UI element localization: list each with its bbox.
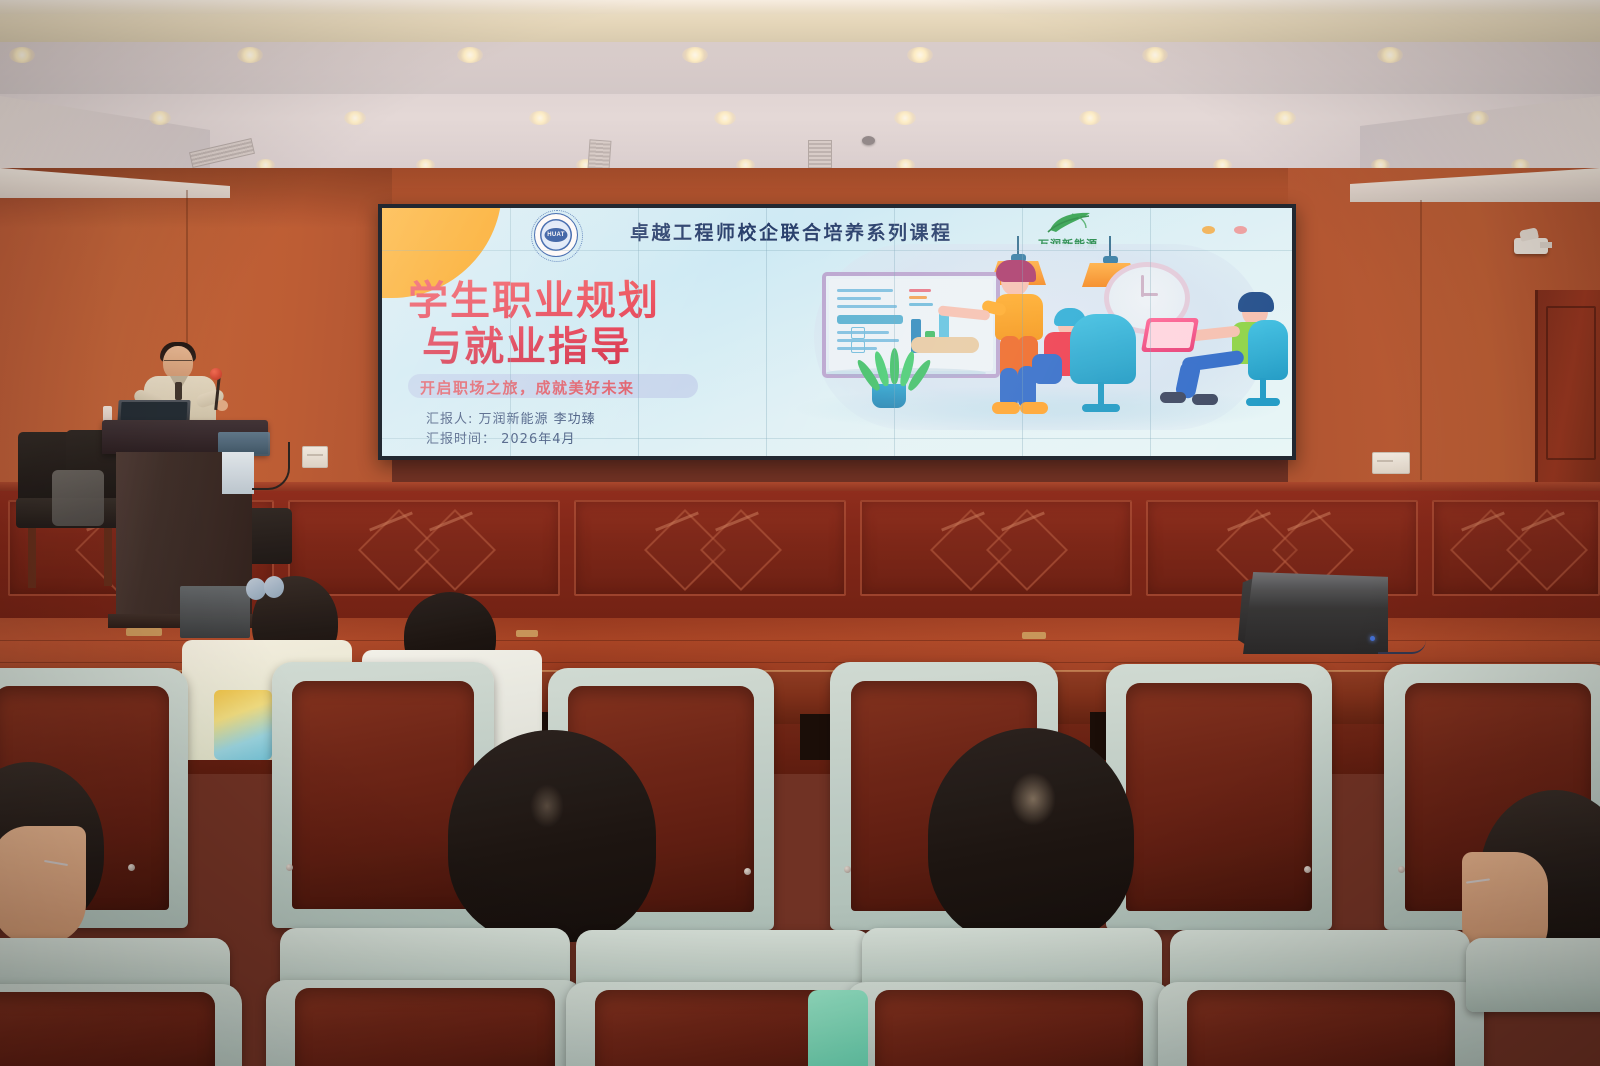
stage-object-left	[126, 628, 162, 636]
dais-chair-leg-2	[104, 528, 112, 586]
auditorium-photo: HUAT 卓越工程师校企联合培养系列课程 万润新能源 学生职业规划 与就业指导 …	[0, 0, 1600, 1066]
illustration-shoe-4	[1192, 394, 1218, 405]
seat-back-wood	[0, 992, 215, 1066]
ceiling-beam-highlight	[0, 0, 1600, 14]
audience-head-mid-right	[928, 728, 1134, 944]
downlight-r1-1	[9, 47, 35, 63]
downlight-r2-2	[344, 111, 366, 125]
downlight-r1-7	[1377, 47, 1403, 63]
slide-title-line-2: 与就业指导	[408, 324, 738, 370]
audience-face-left-edge	[0, 826, 86, 944]
papers-on-lectern	[222, 452, 254, 494]
wainscot-panel-3	[574, 500, 846, 596]
seat-rivet	[844, 866, 851, 873]
wainscot-panel-6	[1432, 500, 1600, 596]
microphone-icon	[210, 368, 222, 380]
surveillance-camera	[1514, 238, 1548, 254]
audience-head-mid-center	[448, 730, 656, 942]
ceiling-upper-band	[0, 36, 1600, 94]
illustration-laptop-screen	[1146, 322, 1195, 348]
seat-back-wood	[292, 681, 474, 910]
illustration-shoe-3	[1160, 392, 1186, 403]
illustration-chair-base-2	[1246, 398, 1280, 406]
downlight-r1-2	[237, 47, 263, 63]
wall-seam-right	[1420, 200, 1422, 480]
illustration-office-chair-blue	[1070, 314, 1136, 384]
equipment-case	[180, 586, 250, 638]
downlight-r2-1	[149, 111, 171, 125]
audience-shirt-green	[808, 990, 868, 1066]
smoke-detector	[862, 136, 875, 145]
lamp-cap-2	[1103, 256, 1118, 264]
green-swoosh-icon	[1046, 210, 1092, 238]
seat-front-cushion-6	[1466, 938, 1600, 1012]
seat-back-wood	[295, 988, 556, 1066]
seal-label: HUAT	[545, 228, 568, 242]
slide-title-line-1: 学生职业规划	[408, 278, 738, 324]
seat-rivet	[1398, 866, 1405, 873]
wainscot-panel-4	[860, 500, 1132, 596]
audience-scalp-highlight-2	[530, 784, 564, 828]
led-video-wall[interactable]: HUAT 卓越工程师校企联合培养系列课程 万润新能源 学生职业规划 与就业指导 …	[382, 208, 1292, 456]
seat-front-2[interactable]	[266, 980, 584, 1066]
slide-tagline: 开启职场之旅，成就美好未来	[420, 377, 635, 398]
laptop-screen	[121, 402, 188, 420]
wall-outlet-left	[302, 446, 328, 468]
downlight-r2-5	[894, 111, 916, 125]
seat-rivet	[286, 864, 293, 871]
monitor-cable	[1378, 640, 1426, 654]
office-career-planning-illustration	[786, 236, 1286, 448]
seat-front-4[interactable]	[846, 982, 1172, 1066]
hair-bow-left-loop	[246, 578, 266, 600]
downlight-r1-6	[1142, 47, 1168, 63]
seat-back-wood	[1187, 990, 1454, 1066]
stage-object-center	[516, 630, 538, 637]
downlight-r2-6	[1079, 111, 1101, 125]
slide-dot-pink	[1234, 226, 1247, 234]
dais-chair-leg-1	[28, 528, 36, 588]
seat-front-1[interactable]	[0, 984, 242, 1066]
stage-object-right	[1022, 632, 1046, 639]
slide-dot-orange	[1202, 226, 1215, 234]
seat-front-5[interactable]	[1158, 982, 1484, 1066]
seat-mid-5[interactable]	[1106, 664, 1332, 930]
door-panel	[1546, 306, 1596, 460]
monitor-power-led	[1370, 636, 1375, 641]
downlight-r1-5	[907, 47, 933, 63]
presenter-tie	[175, 382, 182, 400]
illustration-chair-base	[1082, 404, 1120, 412]
sweater-graphic	[214, 690, 272, 760]
illustration-shoe-1	[992, 402, 1020, 414]
hair-bow-right-loop	[264, 576, 284, 598]
wall-outlet-right	[1372, 452, 1410, 474]
downlight-r2-4	[714, 111, 736, 125]
illustration-office-chair-2	[1248, 320, 1288, 380]
downlight-r1-3	[457, 47, 483, 63]
lamp-cord-2	[1109, 236, 1111, 258]
seat-back-wood	[875, 990, 1142, 1066]
presenter-glasses-icon	[164, 360, 192, 368]
seat-back-wood	[1126, 683, 1311, 912]
seat-rivet	[128, 864, 135, 871]
jacket-on-chair	[52, 470, 104, 526]
downlight-r2-3	[529, 111, 551, 125]
slide-main-title: 学生职业规划 与就业指导	[408, 278, 738, 370]
seat-rivet	[744, 868, 751, 875]
wainscot-panel-2	[288, 500, 560, 596]
stage-monitor-speaker	[1243, 572, 1388, 654]
audience-scalp-highlight	[1010, 772, 1056, 826]
illustration-shoe-2	[1020, 402, 1048, 414]
lamp-cord-1	[1017, 236, 1019, 256]
downlight-r2-7	[1274, 111, 1296, 125]
seat-rivet	[1304, 866, 1311, 873]
illustration-chair-post-2	[1260, 378, 1266, 400]
downlight-r1-4	[682, 47, 708, 63]
hair-bow	[246, 578, 286, 602]
downlight-r2-8	[1467, 111, 1489, 125]
